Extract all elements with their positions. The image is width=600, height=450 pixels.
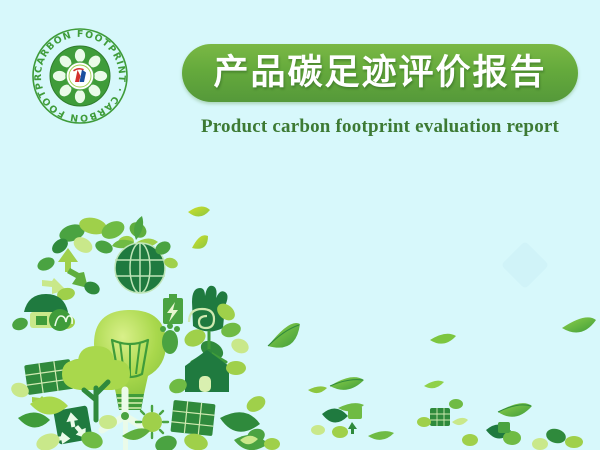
- house-icon: [167, 350, 246, 396]
- trailing-icon-clusters: [240, 399, 583, 450]
- recycle-icon-cluster: [35, 248, 101, 302]
- page-subtitle: Product carbon footprint evaluation repo…: [182, 116, 578, 138]
- slide-canvas: CARBON FOOTPRINT · CARBON FOOTPRINT ·: [0, 0, 600, 450]
- report-title-banner: 产品碳足迹评价报告: [182, 44, 578, 102]
- carbon-footprint-seal-logo: CARBON FOOTPRINT · CARBON FOOTPRINT ·: [30, 26, 130, 126]
- solar-panel-icon-lower: [170, 400, 215, 436]
- page-title: 产品碳足迹评价报告: [213, 56, 546, 91]
- eco-icon-collage: [0, 190, 600, 450]
- lower-icon-cluster: [18, 390, 268, 450]
- battery-icon: [163, 294, 183, 324]
